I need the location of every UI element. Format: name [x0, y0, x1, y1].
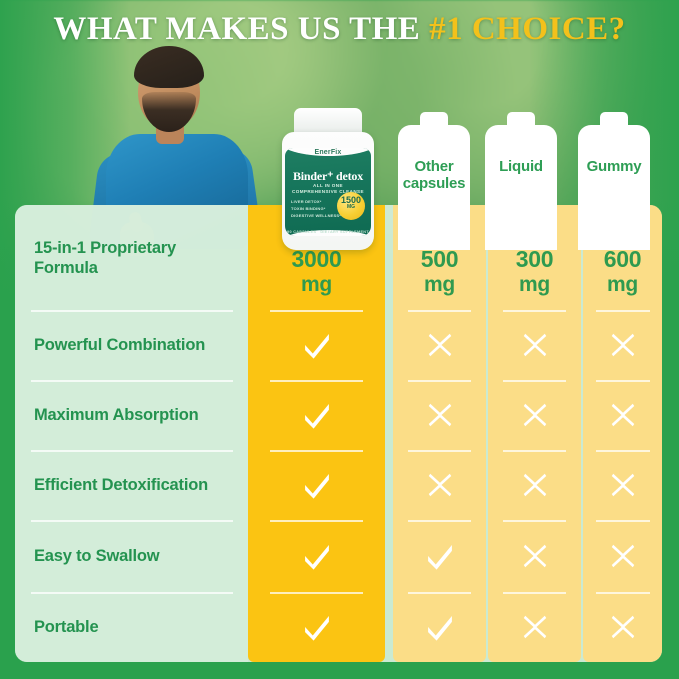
- check-icon-other-row5: [393, 520, 486, 592]
- column-divider: [503, 380, 566, 382]
- bottle-label: EnerFix Binder⁺ detox ALL IN ONE COMPREH…: [285, 148, 371, 236]
- product-bullet: LIVER DETOX*: [291, 198, 341, 205]
- column-divider: [596, 450, 650, 452]
- cross-icon-liquid-row4: [488, 450, 581, 520]
- check-icon-brand-row3: [248, 380, 385, 450]
- cross-icon-other-row3: [393, 380, 486, 450]
- cross-icon-other-row4: [393, 450, 486, 520]
- feature-label-column: 15-in-1 Proprietary FormulaPowerful Comb…: [15, 205, 248, 662]
- dosage-value-other: 500mg: [393, 247, 486, 297]
- product-bullet: DIGESTIVE WELLNESS*: [291, 212, 341, 219]
- cross-icon-liquid-row3: [488, 380, 581, 450]
- capsule-count: 90 CAPSULES: [287, 230, 316, 234]
- bottle-label-footer: 90 CAPSULES DIETARY SUPPLEMENT: [285, 230, 371, 234]
- comparison-column-liquid: 300mg: [488, 205, 581, 662]
- supplement-tag: DIETARY SUPPLEMENT: [320, 230, 369, 234]
- dosage-unit-other: mg: [393, 272, 486, 297]
- page-title-accent: #1 CHOICE?: [429, 11, 626, 47]
- feature-label-3: Maximum Absorption: [34, 380, 234, 450]
- competitor-bottle-other-capsules: Other capsules: [398, 112, 470, 250]
- column-divider: [270, 310, 363, 312]
- column-divider: [503, 450, 566, 452]
- competitor-label-liquid: Liquid: [485, 158, 557, 175]
- column-divider: [596, 310, 650, 312]
- feature-label-6: Portable: [34, 592, 234, 662]
- check-icon-brand-row6: [248, 592, 385, 662]
- bottle-body: [485, 125, 557, 250]
- column-divider: [408, 592, 471, 594]
- page-title-main: WHAT MAKES US THE: [53, 11, 429, 47]
- feature-label-1: 15-in-1 Proprietary Formula: [34, 205, 234, 310]
- product-name: Binder⁺ detox: [285, 169, 371, 184]
- competitor-bottle-liquid: Liquid: [485, 112, 557, 250]
- cross-icon-gummy-row5: [583, 520, 662, 592]
- person-beard: [142, 92, 196, 132]
- product-bullets: LIVER DETOX* TOXIN BINDING* DIGESTIVE WE…: [291, 198, 341, 219]
- page-title: WHAT MAKES US THE #1 CHOICE?: [0, 6, 679, 52]
- check-icon-brand-row5: [248, 520, 385, 592]
- cross-icon-gummy-row2: [583, 310, 662, 380]
- product-bullet: TOXIN BINDING*: [291, 205, 341, 212]
- feature-label-5: Easy to Swallow: [34, 520, 234, 592]
- competitor-label-other-capsules: Other capsules: [398, 158, 470, 192]
- dosage-unit-gummy: mg: [583, 272, 662, 297]
- comparison-table: 15-in-1 Proprietary FormulaPowerful Comb…: [15, 205, 662, 662]
- feature-label-2: Powerful Combination: [34, 310, 234, 380]
- check-icon-brand-row4: [248, 450, 385, 520]
- comparison-column-gummy: 600mg: [583, 205, 662, 662]
- feature-label-4: Efficient Detoxification: [34, 450, 234, 520]
- column-divider: [596, 592, 650, 594]
- cross-icon-gummy-row3: [583, 380, 662, 450]
- cross-icon-other-row2: [393, 310, 486, 380]
- cross-icon-liquid-row6: [488, 592, 581, 662]
- check-icon-other-row6: [393, 592, 486, 662]
- product-subtitle-line1: ALL IN ONE: [313, 183, 343, 188]
- column-divider: [408, 450, 471, 452]
- page-bottom-band: [0, 662, 679, 679]
- column-divider: [596, 380, 650, 382]
- dosage-unit-liquid: mg: [488, 272, 581, 297]
- brand-logo: EnerFix: [285, 149, 371, 156]
- column-divider: [503, 592, 566, 594]
- dosage-value-liquid: 300mg: [488, 247, 581, 297]
- dosage-unit-brand: mg: [248, 272, 385, 297]
- column-divider: [270, 520, 363, 522]
- dosage-badge: 1500 MG: [337, 192, 365, 220]
- column-divider: [270, 380, 363, 382]
- competitor-bottle-gummy: Gummy: [578, 112, 650, 250]
- check-icon-brand-row2: [248, 310, 385, 380]
- cross-icon-liquid-row2: [488, 310, 581, 380]
- column-divider: [503, 310, 566, 312]
- competitor-label-gummy: Gummy: [578, 158, 650, 175]
- column-divider: [596, 520, 650, 522]
- column-divider: [408, 520, 471, 522]
- bottle-body: [578, 125, 650, 250]
- brand-product-bottle: EnerFix Binder⁺ detox ALL IN ONE COMPREH…: [278, 108, 378, 250]
- column-divider: [408, 380, 471, 382]
- person-hair: [134, 46, 204, 88]
- column-divider: [408, 310, 471, 312]
- dosage-value-gummy: 600mg: [583, 247, 662, 297]
- cross-icon-gummy-row4: [583, 450, 662, 520]
- column-divider: [270, 592, 363, 594]
- column-divider: [270, 450, 363, 452]
- comparison-column-brand: 3000mg: [248, 205, 385, 662]
- comparison-column-other: 500mg: [393, 205, 486, 662]
- dosage-value-brand: 3000mg: [248, 247, 385, 297]
- cross-icon-liquid-row5: [488, 520, 581, 592]
- column-divider: [503, 520, 566, 522]
- cross-icon-gummy-row6: [583, 592, 662, 662]
